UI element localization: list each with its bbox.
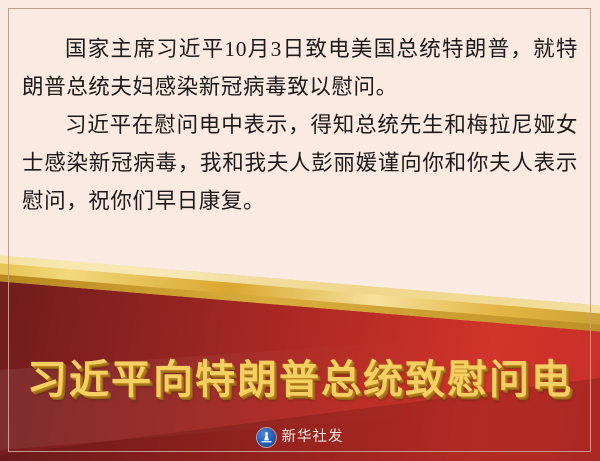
poster-card: 国家主席习近平10月3日致电美国总统特朗普，就特朗普总统夫妇感染新冠病毒致以慰问… xyxy=(0,0,600,461)
letter-body: 国家主席习近平10月3日致电美国总统特朗普，就特朗普总统夫妇感染新冠病毒致以慰问… xyxy=(22,30,578,220)
xinhua-logo-icon xyxy=(257,428,276,447)
credit-row: 新华社发 xyxy=(0,428,600,447)
letter-paragraph-1: 国家主席习近平10月3日致电美国总统特朗普，就特朗普总统夫妇感染新冠病毒致以慰问… xyxy=(22,30,578,106)
headline-title: 习近平向特朗普总统致慰问电 xyxy=(0,347,600,405)
letter-paragraph-2: 习近平在慰问电中表示，得知总统先生和梅拉尼娅女士感染新冠病毒，我和我夫人彭丽媛谨… xyxy=(22,106,578,220)
credit-label: 新华社发 xyxy=(282,428,344,447)
